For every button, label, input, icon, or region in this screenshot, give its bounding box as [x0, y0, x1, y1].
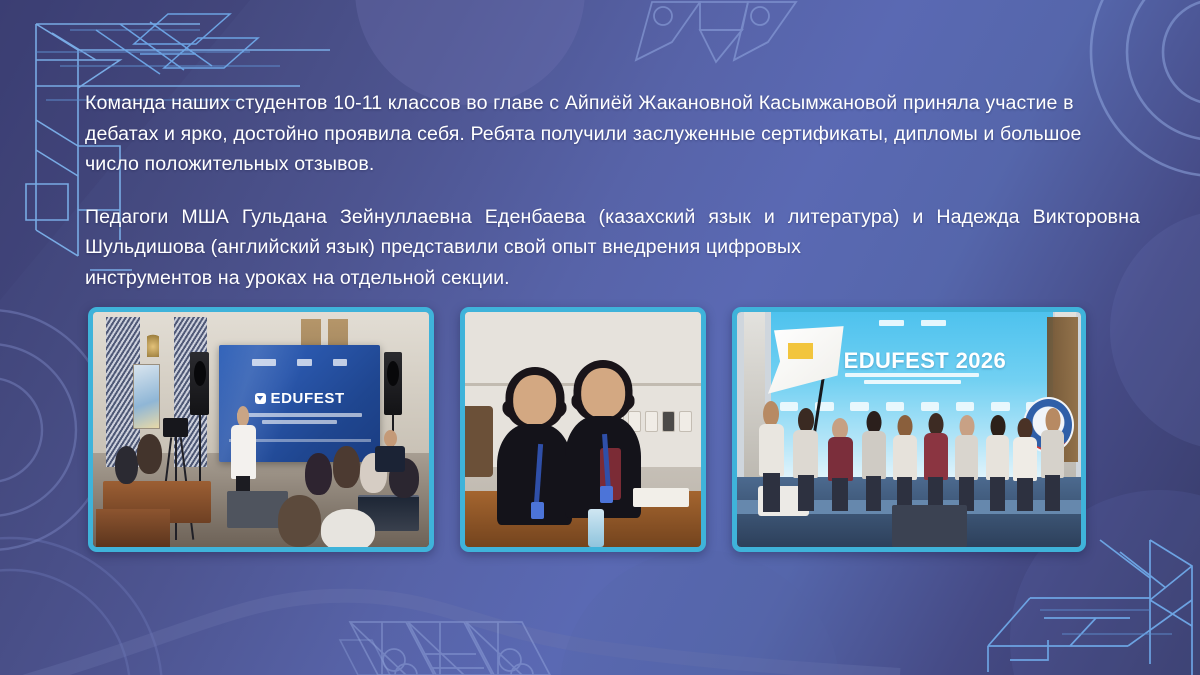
- photo-one-content: EDUFEST: [93, 312, 429, 547]
- photo-two-content: [465, 312, 701, 547]
- screen-brand: EDUFEST: [219, 390, 380, 407]
- student-3: [826, 418, 854, 510]
- deco-bottom-center: [350, 622, 550, 675]
- badge-right: [600, 486, 613, 503]
- paragraph-two-main: Педагоги МША Гульдана Зейнуллаевна Еденб…: [85, 206, 1140, 259]
- seated-man: [375, 430, 405, 472]
- bottom-center-soft-circle: [560, 550, 840, 675]
- paragraph-one: Команда наших студентов 10-11 классов во…: [85, 88, 1140, 180]
- photo-two-teachers[interactable]: [460, 307, 706, 552]
- student-9: [1012, 418, 1038, 510]
- student-1: [758, 401, 786, 509]
- paragraph-two-last-line: инструментов на уроках на отдельной секц…: [85, 263, 1140, 294]
- student-2: [792, 408, 820, 509]
- photo-students-stage[interactable]: EDUFEST 2026: [732, 307, 1086, 552]
- photo-three-content: EDUFEST 2026: [737, 312, 1081, 547]
- photo-row: EDUFEST: [88, 307, 1112, 552]
- presenter-figure: [231, 406, 256, 500]
- screen-partner-logos: [219, 359, 380, 366]
- water-bottle: [588, 509, 605, 547]
- stage-monitor: [892, 505, 968, 547]
- screen-brand-text: EDUFEST: [271, 390, 345, 407]
- photo-conference-hall[interactable]: EDUFEST: [88, 307, 434, 552]
- text-block: Команда наших студентов 10-11 классов во…: [85, 88, 1140, 293]
- badge-left: [531, 502, 544, 519]
- student-10: [1040, 408, 1066, 509]
- screen-brand-text-three: EDUFEST 2026: [844, 348, 1007, 374]
- deco-top-center: [636, 2, 796, 62]
- deco-bottom-left-triangles: [340, 640, 390, 675]
- edufest-logo-icon: [255, 393, 266, 404]
- slide-canvas: Команда наших студентов 10-11 классов во…: [0, 0, 1200, 675]
- screen-partner-logos-three: [771, 320, 1053, 326]
- student-6: [923, 413, 949, 509]
- screen-subtitle-three: [811, 373, 1014, 384]
- left-lower-arcs: [0, 538, 162, 675]
- deco-bottom-right-thin: [1040, 610, 1172, 634]
- wave-arc: [0, 596, 900, 675]
- deco-bottom-right: [988, 540, 1192, 675]
- deco-top-left-diagonals: [96, 14, 258, 74]
- student-8: [985, 415, 1011, 509]
- paragraph-two: Педагоги МША Гульдана Зейнуллаевна Еденб…: [85, 202, 1140, 294]
- student-4: [861, 411, 887, 510]
- student-7: [954, 415, 980, 509]
- student-5: [892, 415, 918, 509]
